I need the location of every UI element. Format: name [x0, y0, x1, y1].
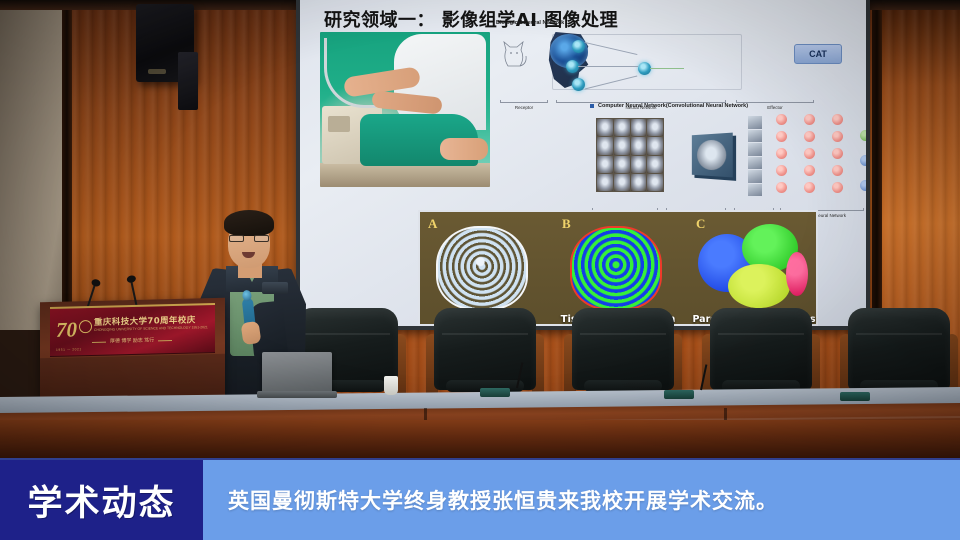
- mri-thumbnail: [631, 137, 647, 154]
- mri-thumbnail: [597, 174, 613, 191]
- nn-node: [832, 165, 843, 176]
- screenshot-root: 研究领域一： 影像组学AI 图像处理 Biological Neural Net…: [0, 0, 960, 540]
- nn-node: [832, 148, 843, 159]
- hidden-layer-1: [776, 114, 787, 199]
- nn-node: [832, 114, 843, 125]
- biological-neural-network-diagram: Biological Neural Network: [496, 20, 856, 108]
- anniversary-years: 1951 — 2021: [56, 347, 82, 352]
- mri-scan-image: [436, 226, 528, 310]
- mri-thumbnail: [631, 174, 647, 191]
- cnn-section-title: Computer Neural Network(Convolutional Ne…: [598, 103, 748, 109]
- synapse-line-axon: [650, 68, 684, 69]
- chair-backrest: [848, 308, 950, 390]
- pooling-cell: [748, 116, 762, 129]
- nn-node: [776, 148, 787, 159]
- nn-node: [832, 182, 843, 193]
- output-layer: [860, 130, 866, 205]
- pooling-cell: [748, 170, 762, 183]
- mri-thumbnail: [647, 119, 663, 136]
- nn-node: [804, 114, 815, 125]
- mri-thumbnail: [647, 174, 663, 191]
- mri-thumbnail: [614, 174, 630, 191]
- pooling-cell: [748, 130, 762, 143]
- mri-thumbnail: [647, 156, 663, 173]
- mri-thumbnail: [631, 156, 647, 173]
- presenter-hair: [224, 210, 274, 236]
- mri-thumbnail: [647, 137, 663, 154]
- anniversary-logo: 70: [56, 314, 90, 351]
- lobe-occipital: [786, 252, 808, 296]
- bullet-marker: [590, 104, 594, 108]
- laptop-icon: [262, 352, 332, 392]
- desk-microphone-base: [480, 388, 510, 397]
- output-node-hemorrhage: [860, 155, 866, 166]
- mri-thumbnail: [614, 119, 630, 136]
- nn-node: [776, 131, 787, 142]
- anniversary-banner: 70 1951 — 2021 重庆科技大学70周年校庆 CHONGQING UN…: [50, 303, 215, 357]
- news-banner: 学术动态 英国曼彻斯特大学终身教授张恒贵来我校开展学术交流。: [0, 460, 960, 540]
- chair-backrest: [572, 308, 674, 390]
- pooling-layer-column: [748, 116, 762, 196]
- synapse-line: [578, 66, 638, 67]
- nn-node: [804, 182, 815, 193]
- output-node-infarction: [860, 130, 866, 141]
- desk-microphone-base: [664, 390, 694, 399]
- panel-letter-b: B: [562, 216, 571, 232]
- input-mri-grid: [596, 118, 664, 192]
- pooling-cell: [748, 157, 762, 170]
- chair-backrest: [710, 308, 812, 390]
- mri-thumbnail: [597, 119, 613, 136]
- chair-backrest: [434, 308, 536, 390]
- anniversary-slogan: 厚德 博学 励志 笃行: [110, 336, 154, 344]
- cat-sketch-icon: [498, 36, 528, 72]
- front-table-edge: [0, 420, 960, 460]
- tissue-classification-image: [570, 226, 662, 310]
- pooling-cell: [748, 143, 762, 156]
- seal-icon: [79, 320, 92, 333]
- panel-letter-a: A: [428, 216, 437, 232]
- mri-thumbnail: [614, 156, 630, 173]
- pooling-cell: [748, 184, 762, 197]
- mri-thumbnail: [631, 119, 647, 136]
- presenter-badge: [262, 282, 288, 294]
- banner-headline: 英国曼彻斯特大学终身教授张恒贵来我校开展学术交流。: [228, 460, 778, 540]
- projection-screen: 研究领域一： 影像组学AI 图像处理 Biological Neural Net…: [300, 0, 866, 326]
- mri-thumbnail: [614, 137, 630, 154]
- conference-room-scene: 研究领域一： 影像组学AI 图像处理 Biological Neural Net…: [0, 0, 960, 460]
- cnn-diagram: Computer Neural Network(Convolutional Ne…: [300, 104, 866, 214]
- glasses-icon: [229, 235, 269, 242]
- nn-node: [776, 114, 787, 125]
- presenter-hand: [241, 321, 262, 345]
- banner-category-tag: 学术动态: [0, 460, 203, 540]
- nn-node: [804, 131, 815, 142]
- hidden-layer-3: [832, 114, 843, 199]
- hidden-layer-2: [804, 114, 815, 199]
- nn-node: [776, 182, 787, 193]
- bracket: [500, 100, 548, 103]
- wall-speaker-mount: [178, 52, 198, 110]
- bnn-section-title: Biological Neural Network: [496, 20, 564, 26]
- mri-thumbnail: [597, 137, 613, 154]
- parcellation-3d-image: [698, 224, 810, 310]
- cat-output-label: CAT: [794, 44, 842, 64]
- nn-node: [804, 148, 815, 159]
- neuron-node: [572, 40, 585, 53]
- paper-cup-icon: [384, 376, 398, 395]
- mri-thumbnail: [597, 156, 613, 173]
- nn-node: [776, 165, 787, 176]
- nn-node: [804, 165, 815, 176]
- desk-microphone-base: [840, 392, 870, 401]
- output-node-tumor: [860, 180, 866, 191]
- convolution-cube: [692, 133, 733, 178]
- neuron-node: [572, 78, 585, 91]
- banner-category-label: 学术动态: [27, 475, 175, 526]
- nn-node: [832, 131, 843, 142]
